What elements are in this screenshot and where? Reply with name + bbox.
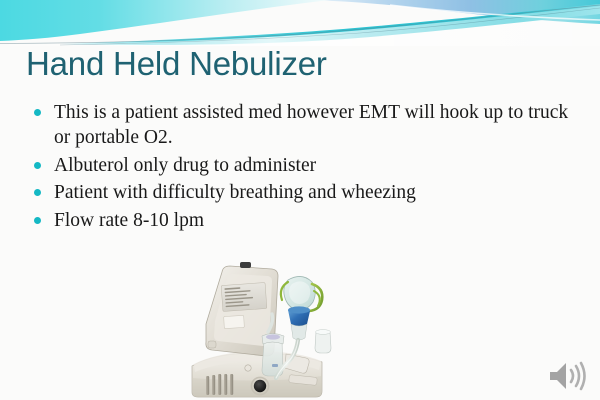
list-item-label: Albuterol only drug to administer	[54, 153, 576, 178]
list-item-label: Flow rate 8-10 lpm	[54, 208, 576, 233]
bullet-marker-icon	[34, 217, 41, 224]
list-item-label: Patient with difficulty breathing and wh…	[54, 180, 576, 205]
speaker-audio-icon[interactable]	[546, 360, 588, 392]
list-item: Patient with difficulty breathing and wh…	[28, 180, 576, 205]
list-item: Flow rate 8-10 lpm	[28, 208, 576, 233]
decorative-wave-band	[0, 0, 600, 46]
nebulizer-photo	[188, 258, 332, 400]
list-item: Albuterol only drug to administer	[28, 153, 576, 178]
bullet-list: This is a patient assisted med however E…	[28, 100, 576, 235]
bullet-marker-icon	[34, 162, 41, 169]
slide-canvas: Hand Held Nebulizer This is a patient as…	[0, 0, 600, 400]
list-item: This is a patient assisted med however E…	[28, 100, 576, 150]
list-item-label: This is a patient assisted med however E…	[54, 100, 576, 150]
slide-title: Hand Held Nebulizer	[26, 44, 327, 84]
bullet-marker-icon	[34, 189, 41, 196]
bullet-marker-icon	[34, 109, 41, 116]
